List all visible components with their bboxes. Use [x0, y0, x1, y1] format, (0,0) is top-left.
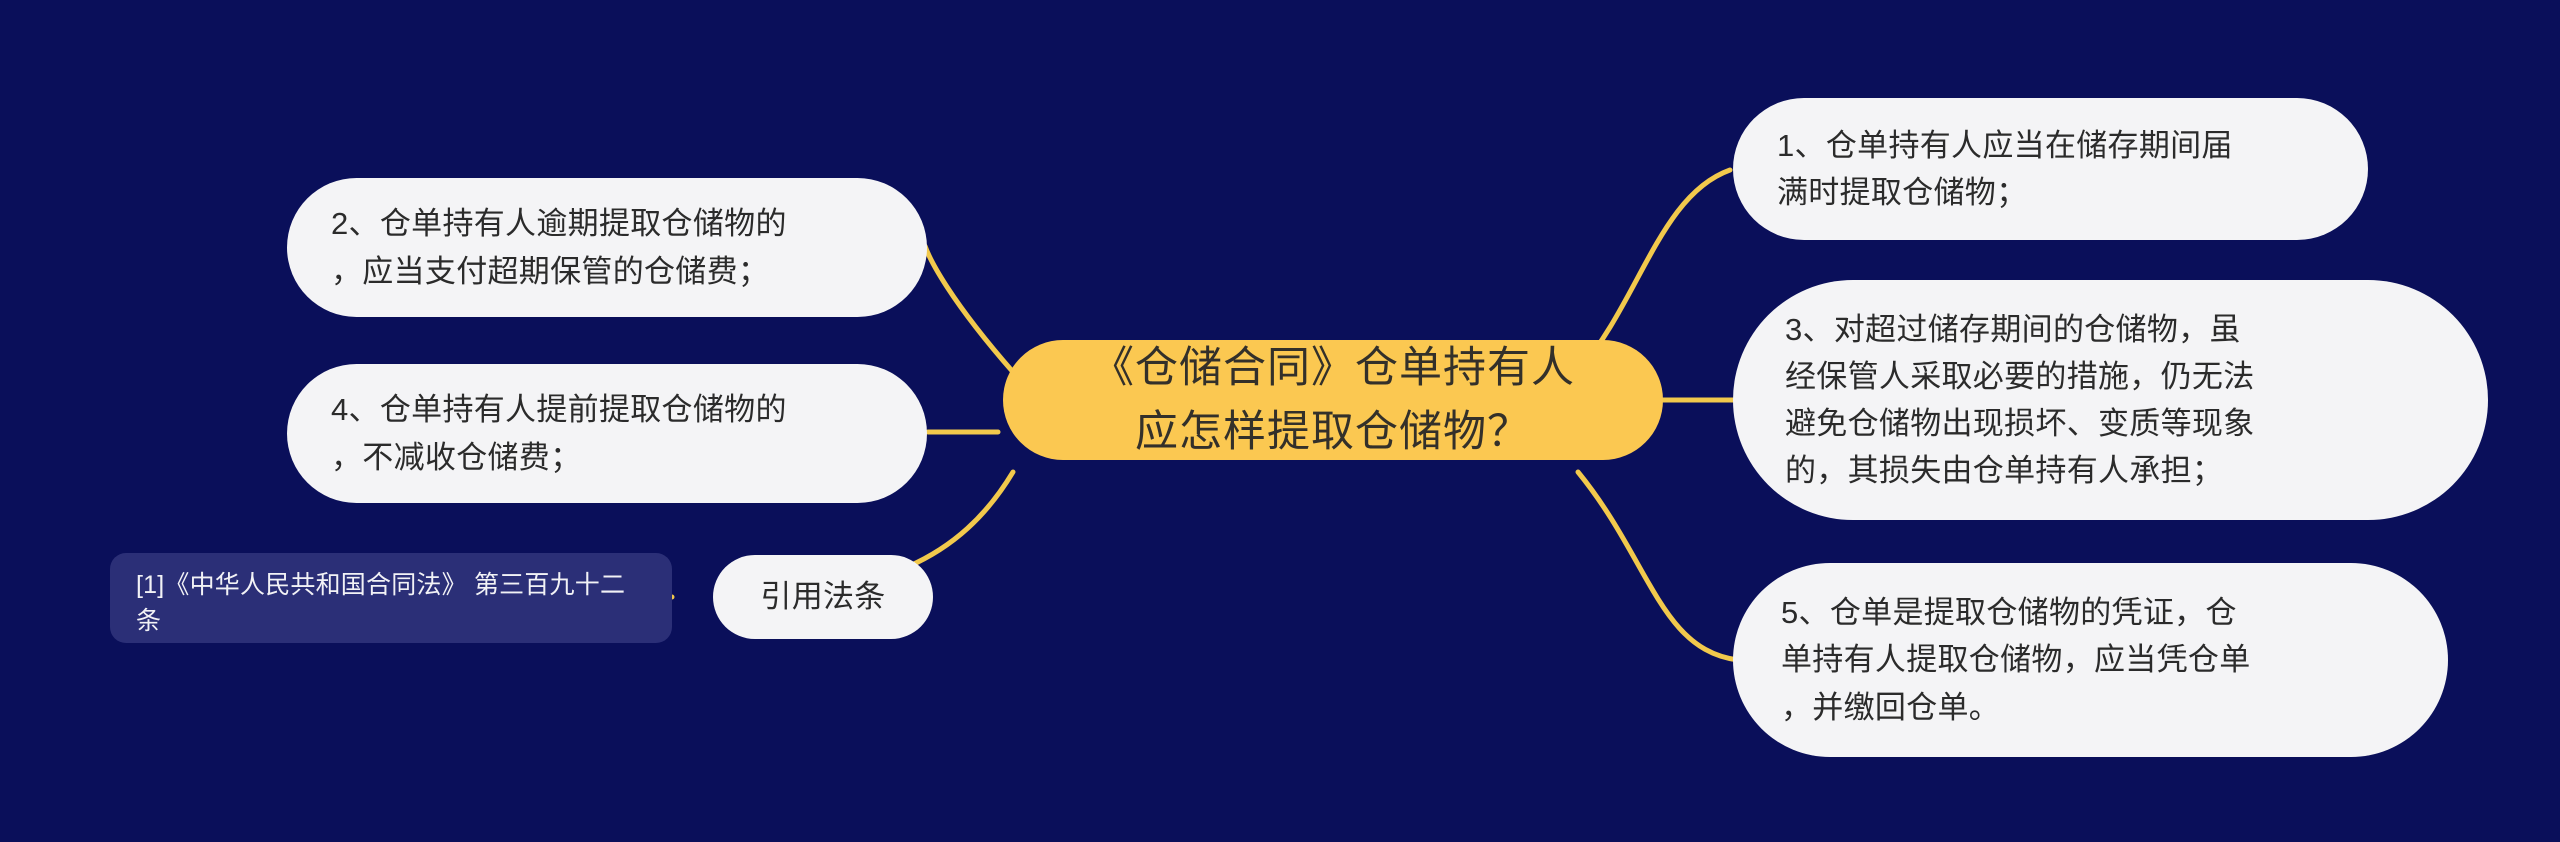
- branch-node-citations-label: 引用法条: [743, 573, 903, 620]
- center-node[interactable]: 《仓储合同》仓单持有人 应怎样提取仓储物？: [1003, 340, 1663, 460]
- branch-node-3-bubble[interactable]: 3、对超过储存期间的仓储物，虽 经保管人采取必要的措施，仍无法 避免仓储物出现损…: [1733, 280, 2488, 520]
- branch-node-4-label: 4、仓单持有人提前提取仓储物的 ，不减收仓储费；: [331, 386, 883, 480]
- branch-node-4[interactable]: 4、仓单持有人提前提取仓储物的 ，不减收仓储费；: [287, 371, 927, 496]
- branch-node-4-bubble[interactable]: 4、仓单持有人提前提取仓储物的 ，不减收仓储费；: [287, 364, 927, 502]
- branch-node-3[interactable]: 3、对超过储存期间的仓储物，虽 经保管人采取必要的措施，仍无法 避免仓储物出现损…: [1733, 290, 2488, 510]
- branch-node-1-bubble[interactable]: 1、仓单持有人应当在储存期间届 满时提取仓储物；: [1733, 98, 2368, 240]
- branch-node-5-bubble[interactable]: 5、仓单是提取仓储物的凭证，仓 单持有人提取仓储物，应当凭仓单 ，并缴回仓单。: [1733, 563, 2448, 756]
- branch-node-citations-bubble[interactable]: 引用法条: [713, 555, 933, 638]
- citation-box[interactable]: [1]《中华人民共和国合同法》 第三百九十二 条: [110, 553, 672, 643]
- mindmap-canvas: 《仓储合同》仓单持有人 应怎样提取仓储物？ 1、仓单持有人应当在储存期间届 满时…: [0, 0, 2560, 842]
- edge-center-to-branch-2: [925, 246, 1013, 372]
- center-node-label: 《仓储合同》仓单持有人 应怎样提取仓储物？: [1091, 336, 1575, 465]
- branch-node-2-bubble[interactable]: 2、仓单持有人逾期提取仓储物的 ，应当支付超期保管的仓储费；: [287, 178, 927, 316]
- branch-node-3-label: 3、对超过储存期间的仓储物，虽 经保管人采取必要的措施，仍无法 避免仓储物出现损…: [1785, 306, 2436, 494]
- citation-box-label: [1]《中华人民共和国合同法》 第三百九十二 条: [136, 567, 646, 640]
- branch-node-2-label: 2、仓单持有人逾期提取仓储物的 ，应当支付超期保管的仓储费；: [331, 200, 883, 294]
- branch-node-5[interactable]: 5、仓单是提取仓储物的凭证，仓 单持有人提取仓储物，应当凭仓单 ，并缴回仓单。: [1733, 570, 2448, 750]
- edge-center-to-branch-5: [1578, 472, 1738, 660]
- branch-node-2[interactable]: 2、仓单持有人逾期提取仓储物的 ，应当支付超期保管的仓储费；: [287, 185, 927, 310]
- branch-node-1[interactable]: 1、仓单持有人应当在储存期间届 满时提取仓储物；: [1733, 104, 2368, 234]
- branch-node-5-label: 5、仓单是提取仓储物的凭证，仓 单持有人提取仓储物，应当凭仓单 ，并缴回仓单。: [1781, 589, 2400, 730]
- branch-node-citations[interactable]: 引用法条: [713, 560, 933, 634]
- branch-node-1-label: 1、仓单持有人应当在储存期间届 满时提取仓储物；: [1777, 122, 2324, 216]
